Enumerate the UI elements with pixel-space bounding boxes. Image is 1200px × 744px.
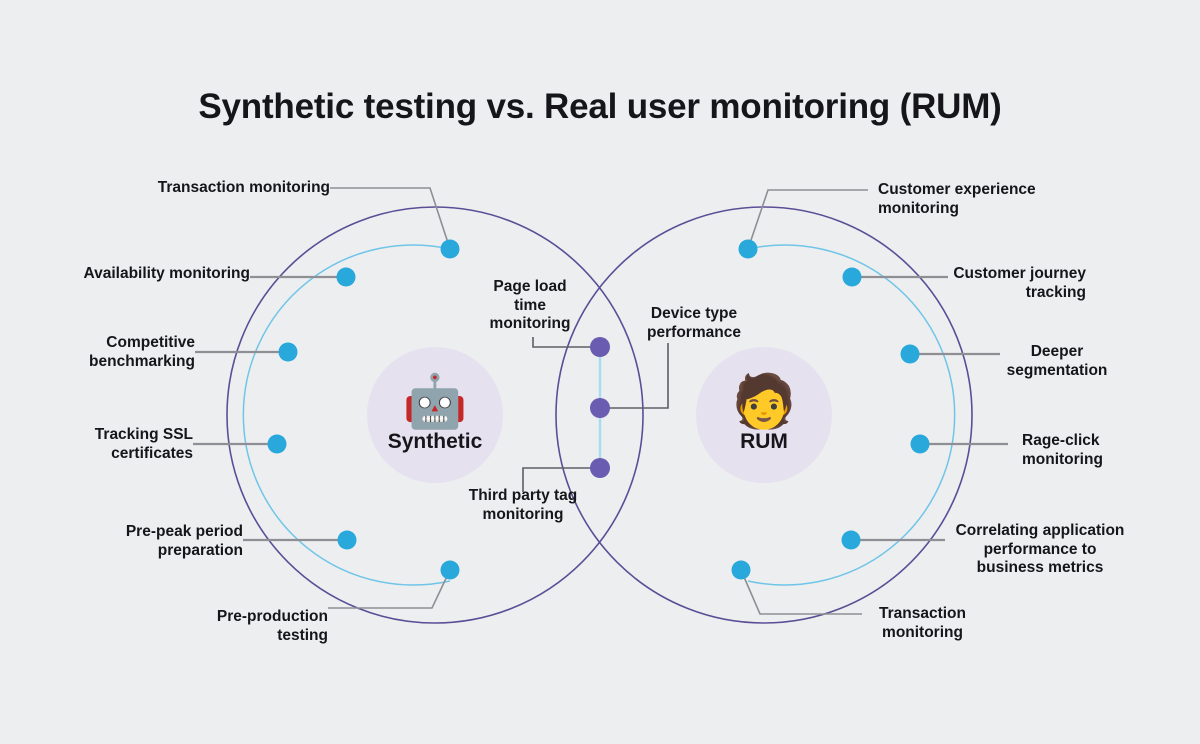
label-center-page-load-time-monitoring[interactable]: Page load time monitoring [470, 278, 590, 334]
robot-icon: 🤖 [403, 376, 468, 428]
label-right-deeper-segmentation[interactable]: Deeper segmentation [1002, 343, 1112, 380]
label-right-customer-experience-monitoring[interactable]: Customer experience monitoring [878, 181, 1118, 218]
dot-left-pre-peak-period-preparation[interactable] [338, 531, 357, 550]
dot-left-competitive-benchmarking[interactable] [279, 343, 298, 362]
leader-left-transaction-monitoring [330, 188, 450, 249]
label-left-pre-peak-period-preparation[interactable]: Pre-peak period preparation [35, 523, 243, 560]
dot-right-transaction-monitoring[interactable] [732, 561, 751, 580]
leader-center-page-load-time-monitoring [533, 337, 600, 347]
dot-left-transaction-monitoring[interactable] [441, 240, 460, 259]
dot-left-pre-production-testing[interactable] [441, 561, 460, 580]
synthetic-badge-label: Synthetic [388, 430, 483, 454]
label-right-rage-click-monitoring[interactable]: Rage-click monitoring [1022, 432, 1182, 469]
person-icon: 🧑 [732, 376, 797, 428]
label-right-correlating-application-performance[interactable]: Correlating application performance to b… [950, 522, 1130, 578]
dot-center-third-party-tag-monitoring[interactable] [590, 458, 610, 478]
label-left-transaction-monitoring[interactable]: Transaction monitoring [80, 179, 330, 198]
label-right-customer-journey-tracking[interactable]: Customer journey tracking [900, 265, 1086, 302]
leader-right-customer-experience-monitoring [748, 190, 868, 249]
dot-left-availability-monitoring[interactable] [337, 268, 356, 287]
label-left-availability-monitoring[interactable]: Availability monitoring [10, 265, 250, 284]
label-left-tracking-ssl-certificates[interactable]: Tracking SSL certificates [5, 426, 193, 463]
label-right-transaction-monitoring[interactable]: Transaction monitoring [860, 605, 985, 642]
rum-badge-label: RUM [740, 430, 788, 454]
dot-center-page-load-time-monitoring[interactable] [590, 337, 610, 357]
dot-right-correlating-application-performance[interactable] [842, 531, 861, 550]
rum-badge: 🧑 RUM [696, 347, 832, 483]
dot-right-rage-click-monitoring[interactable] [911, 435, 930, 454]
dot-left-tracking-ssl-certificates[interactable] [268, 435, 287, 454]
label-left-pre-production-testing[interactable]: Pre-production testing [118, 608, 328, 645]
dot-right-customer-journey-tracking[interactable] [843, 268, 862, 287]
synthetic-badge: 🤖 Synthetic [367, 347, 503, 483]
label-center-device-type-performance[interactable]: Device type performance [621, 305, 767, 342]
diagram-canvas: Synthetic testing vs. Real user monitori… [0, 0, 1200, 744]
dot-right-deeper-segmentation[interactable] [901, 345, 920, 364]
dot-center-device-type-performance[interactable] [590, 398, 610, 418]
label-center-third-party-tag-monitoring[interactable]: Third party tag monitoring [444, 487, 602, 524]
dot-right-customer-experience-monitoring[interactable] [739, 240, 758, 259]
label-left-competitive-benchmarking[interactable]: Competitive benchmarking [5, 334, 195, 371]
